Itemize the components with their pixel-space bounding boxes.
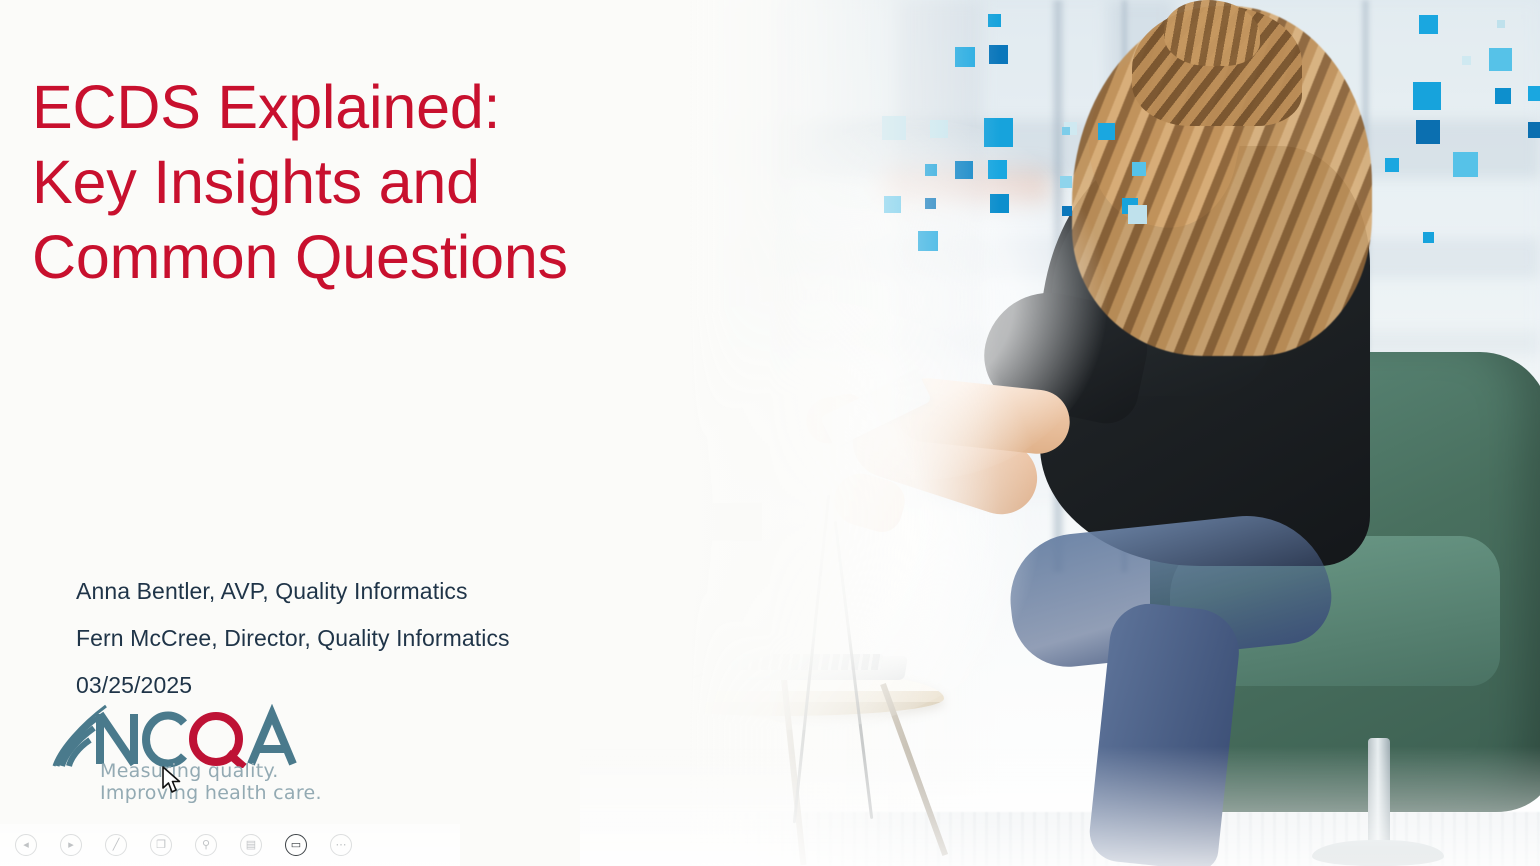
decorative-square	[1416, 120, 1440, 144]
decorative-square	[1423, 232, 1434, 243]
decorative-square	[1489, 48, 1512, 71]
decorative-square	[1497, 20, 1505, 28]
copy-slide-button[interactable]: ❐	[150, 834, 172, 856]
video-camera-icon: ▭	[291, 840, 301, 851]
decorative-square	[1413, 82, 1441, 110]
presenter-line-1: Anna Bentler, AVP, Quality Informatics	[76, 568, 510, 615]
mouse-cursor-icon	[161, 766, 183, 796]
zoom-search-icon: ⚲	[202, 840, 210, 851]
annotate-pen-icon: ╱	[113, 840, 120, 851]
slide-panel-button[interactable]: ▤	[240, 834, 262, 856]
photo-bottom-fade	[580, 746, 1540, 866]
presenter-block: Anna Bentler, AVP, Quality Informatics F…	[76, 568, 510, 709]
slide-panel-icon: ▤	[246, 840, 256, 851]
decorative-square	[1528, 86, 1540, 101]
decorative-square	[1453, 152, 1478, 177]
ncqa-logo: Measuring quality. Improving health care…	[48, 704, 338, 819]
annotate-pen-button[interactable]: ╱	[105, 834, 127, 856]
decorative-square	[1062, 127, 1070, 135]
zoom-search-button[interactable]: ⚲	[195, 834, 217, 856]
decorative-square	[1060, 176, 1072, 188]
next-slide-icon: ▸	[68, 840, 74, 851]
decorative-square	[1419, 15, 1438, 34]
presenter-line-2: Fern McCree, Director, Quality Informati…	[76, 615, 510, 662]
decorative-square	[1528, 122, 1540, 138]
video-camera-button[interactable]: ▭	[285, 834, 307, 856]
copy-slide-icon: ❐	[156, 840, 166, 851]
decorative-square	[1462, 56, 1471, 65]
previous-slide-icon: ◂	[23, 840, 29, 851]
next-slide-button[interactable]: ▸	[60, 834, 82, 856]
presentation-slide: ECDS Explained: Key Insights and Common …	[0, 0, 1540, 866]
slide-title: ECDS Explained: Key Insights and Common …	[32, 70, 752, 295]
ncqa-tagline: Measuring quality. Improving health care…	[100, 760, 340, 804]
more-options-icon: ⋯	[336, 840, 347, 851]
presentation-control-bar[interactable]: ◂▸╱❐⚲▤▭⋯	[0, 824, 460, 866]
previous-slide-button[interactable]: ◂	[15, 834, 37, 856]
decorative-square	[1385, 158, 1399, 172]
decorative-square	[1128, 205, 1147, 224]
decorative-square	[1062, 206, 1072, 216]
ncqa-wordmark	[48, 704, 338, 768]
presentation-date: 03/25/2025	[76, 662, 510, 709]
more-options-button[interactable]: ⋯	[330, 834, 352, 856]
decorative-square	[1495, 88, 1511, 104]
decorative-square	[1098, 123, 1115, 140]
decorative-square	[1132, 162, 1146, 176]
